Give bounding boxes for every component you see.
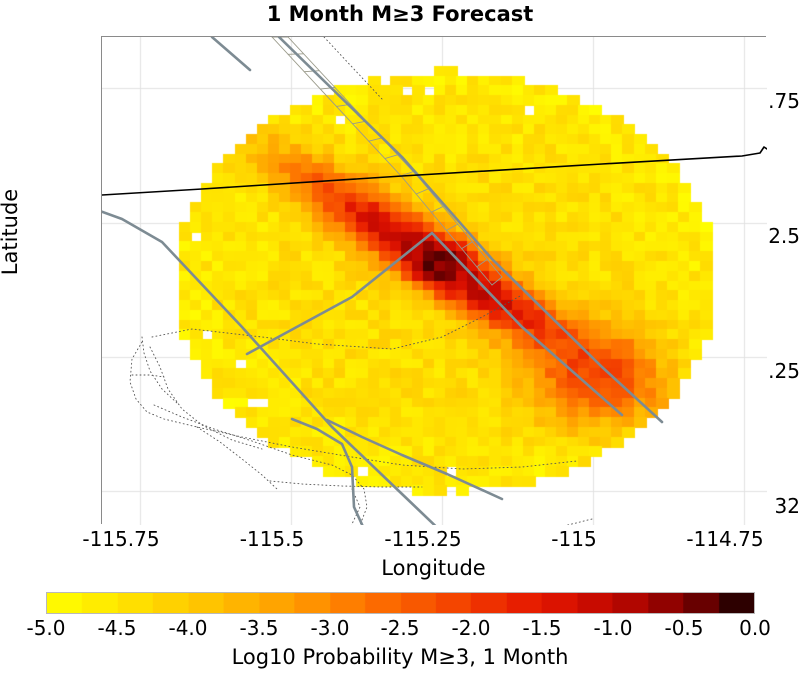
map-overlay-layer	[102, 37, 767, 525]
map-plot-area[interactable]	[101, 36, 766, 524]
x-tick-label: -115	[504, 529, 644, 549]
fault-trace	[102, 210, 447, 525]
x-tick-label: -114.75	[655, 529, 795, 549]
y-axis-label: Latitude	[0, 152, 22, 312]
colorbar[interactable]	[46, 592, 755, 614]
x-tick-label: -115.5	[202, 529, 342, 549]
canal-rung	[447, 224, 458, 230]
canal-rung	[385, 155, 398, 159]
county-boundary-line	[132, 375, 164, 377]
x-tick-label: -115.25	[353, 529, 493, 549]
canal-rung	[462, 242, 473, 249]
international-border	[102, 147, 767, 195]
canal-rung	[477, 259, 487, 266]
county-boundary-line	[152, 295, 522, 349]
canal-line	[272, 37, 492, 285]
colorbar-label: Log10 Probability M≥3, 1 Month	[0, 645, 800, 669]
canal-line	[288, 37, 502, 277]
figure-root: 1 Month M≥3 Forecast Latitude 32.75 32.5…	[0, 0, 800, 675]
county-boundary-line	[130, 342, 577, 469]
canal-rung	[431, 207, 443, 213]
canal-rung	[304, 71, 319, 72]
canal-rung	[369, 138, 382, 141]
fault-trace	[212, 37, 250, 70]
x-axis-label: Longitude	[101, 556, 766, 580]
colorbar-gradient[interactable]	[46, 592, 755, 614]
canal-rung	[416, 189, 428, 194]
fault-trace	[247, 233, 622, 415]
county-boundary-line	[150, 347, 262, 449]
county-boundary-line	[270, 481, 422, 487]
colorbar-tick-label: 0.0	[705, 618, 800, 638]
county-boundary-line	[343, 489, 360, 525]
canal-rung	[492, 277, 502, 285]
x-tick-label: -115.75	[51, 529, 191, 549]
county-boundary-line	[142, 337, 177, 403]
chart-title: 1 Month M≥3 Forecast	[0, 2, 800, 26]
county-boundary-line	[345, 519, 592, 525]
fault-trace	[279, 37, 662, 422]
